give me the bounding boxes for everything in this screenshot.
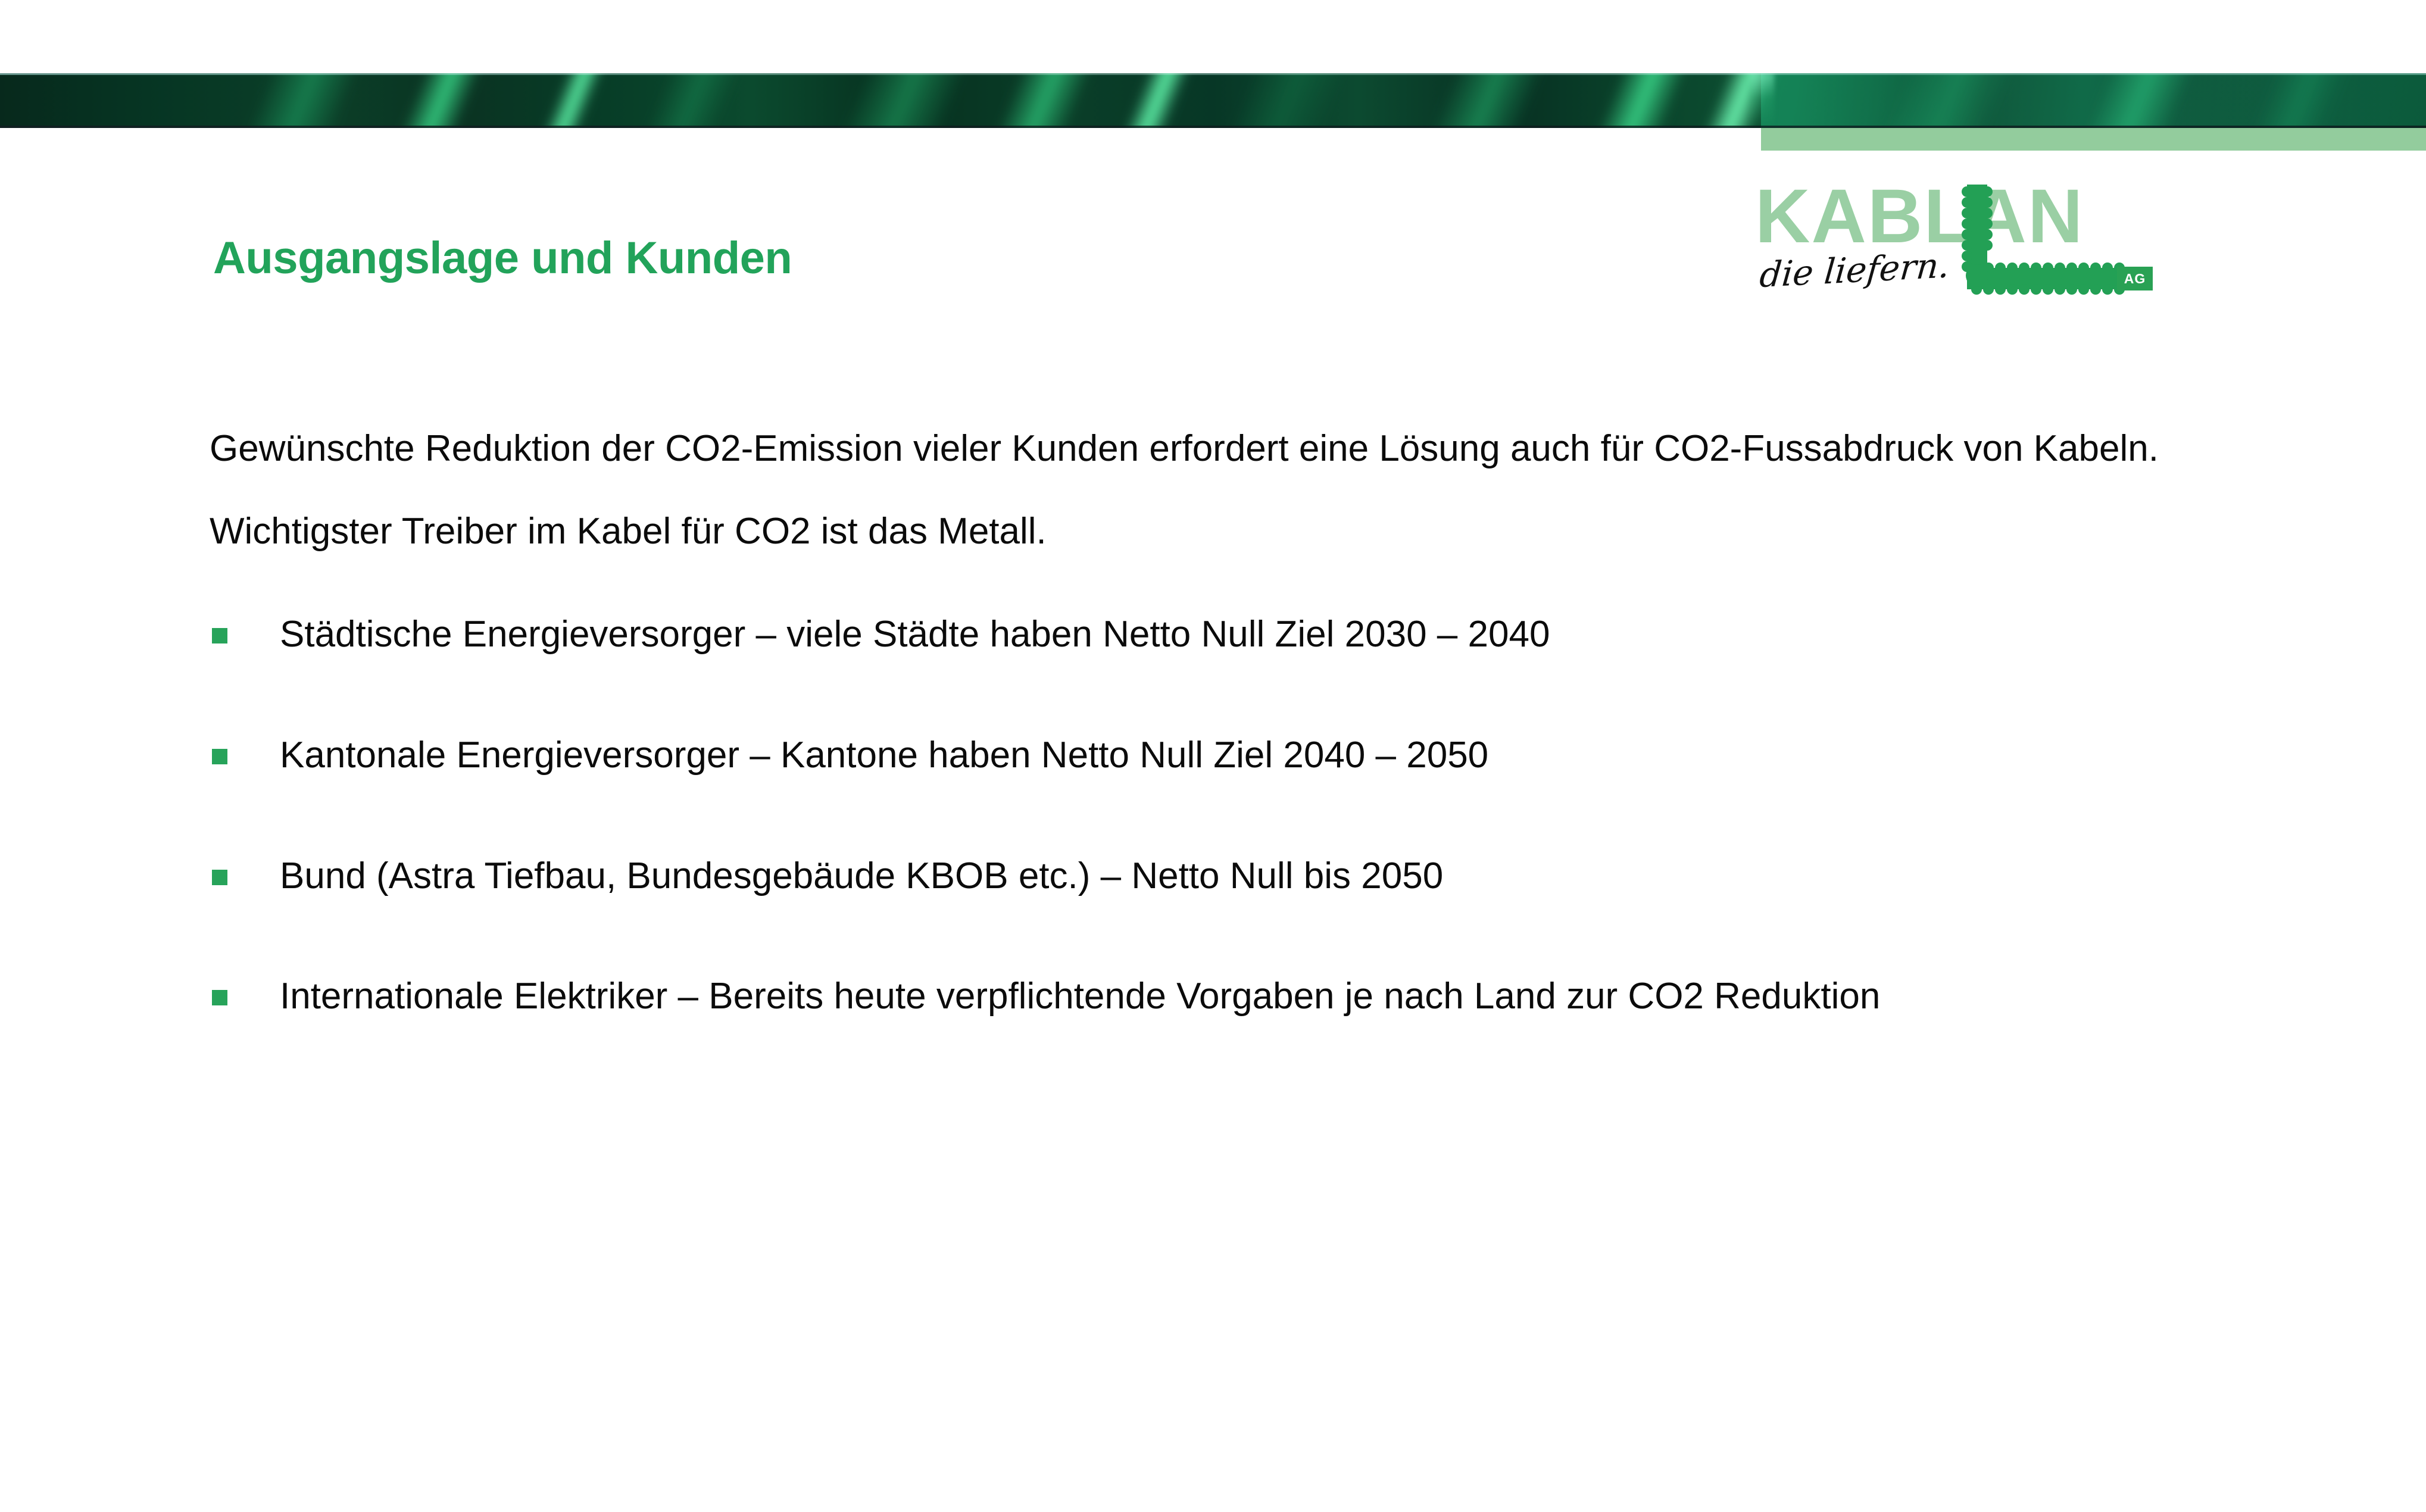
page-title: Ausgangslage und Kunden xyxy=(213,232,792,284)
list-item: Internationale Elektriker – Bereits heut… xyxy=(210,974,2246,1020)
slide-canvas: Ausgangslage und Kunden KABLAN xyxy=(0,0,2426,1512)
list-item: Städtische Energieversorger – viele Städ… xyxy=(210,612,2246,658)
list-item-label: Kantonale Energieversorger – Kantone hab… xyxy=(280,735,1488,776)
list-item: Kantonale Energieversorger – Kantone hab… xyxy=(210,733,2246,779)
body-paragraph: Gewünschte Reduktion der CO2-Emission vi… xyxy=(210,426,2246,472)
list-item-label: Internationale Elektriker – Bereits heut… xyxy=(280,976,1880,1017)
slide-body: Gewünschte Reduktion der CO2-Emission vi… xyxy=(210,426,2246,1020)
banner-edge-glow xyxy=(1750,73,1774,128)
square-bullet-icon xyxy=(212,749,227,764)
kablan-logo: KABLAN xyxy=(1755,179,2184,304)
square-bullet-icon xyxy=(212,870,227,885)
header-banner xyxy=(0,73,2426,128)
square-bullet-icon xyxy=(212,990,227,1005)
banner-right-panel xyxy=(1761,73,2426,128)
list-item: Bund (Astra Tiefbau, Bundesgebäude KBOB … xyxy=(210,854,2246,899)
logo-ag-badge: AG xyxy=(2117,267,2153,290)
banner-top-highlight xyxy=(0,73,2426,75)
body-paragraph: Wichtigster Treiber im Kabel für CO2 ist… xyxy=(210,509,2246,555)
bullet-list: Städtische Energieversorger – viele Städ… xyxy=(210,612,2246,1020)
banner-underbar xyxy=(1761,128,2426,151)
list-item-label: Städtische Energieversorger – viele Städ… xyxy=(280,614,1550,655)
square-bullet-icon xyxy=(212,628,227,643)
list-item-label: Bund (Astra Tiefbau, Bundesgebäude KBOB … xyxy=(280,855,1443,896)
